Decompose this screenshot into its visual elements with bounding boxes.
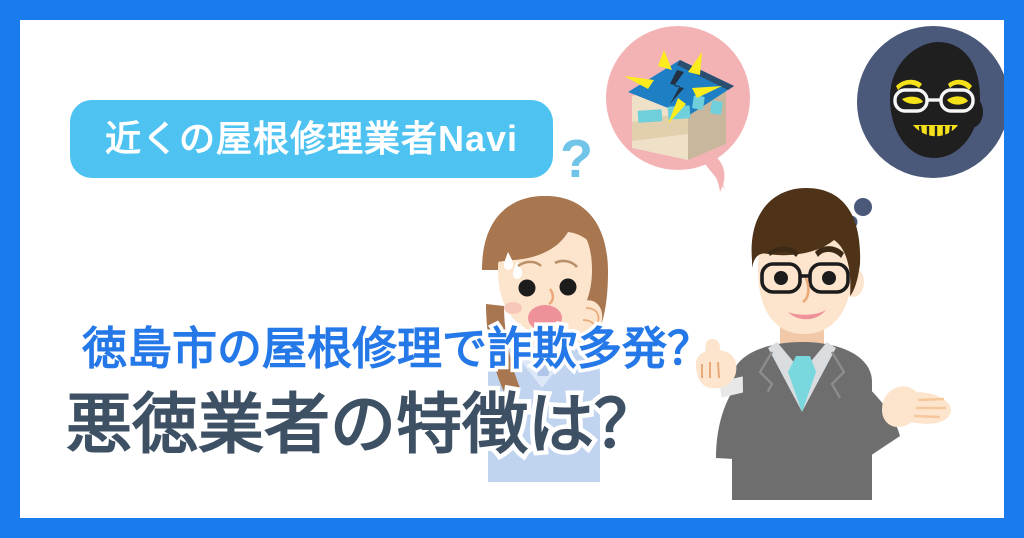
site-logo-badge-label: 近くの屋根修理業者Navi — [105, 121, 518, 157]
villain-thought-bubble — [845, 26, 1005, 229]
man-eye-right — [822, 271, 836, 285]
woman-eye-left — [519, 280, 536, 297]
banner-canvas: 近くの屋根修理業者Navi ? 徳島市の屋根修理で詐欺多発？ 悪徳業者の特徴は？ — [0, 0, 1024, 538]
pointing-hand-icon — [696, 339, 736, 389]
explaining-man-character — [696, 188, 951, 500]
thought-dot-large — [854, 198, 872, 216]
woman-mouth — [528, 305, 562, 331]
woman-eye-right — [560, 279, 577, 296]
open-palm-hand-icon — [882, 386, 951, 427]
banner-inner-stage: 近くの屋根修理業者Navi ? 徳島市の屋根修理で詐欺多発？ 悪徳業者の特徴は？ — [20, 20, 1004, 518]
damaged-house-speech-bubble — [606, 26, 750, 192]
illustration-layer — [20, 20, 1004, 518]
decorative-question-mark: ? — [560, 132, 593, 186]
site-logo-badge[interactable]: 近くの屋根修理業者Navi — [70, 100, 553, 178]
worried-woman-character — [482, 196, 608, 482]
man-eye-left — [774, 271, 788, 285]
